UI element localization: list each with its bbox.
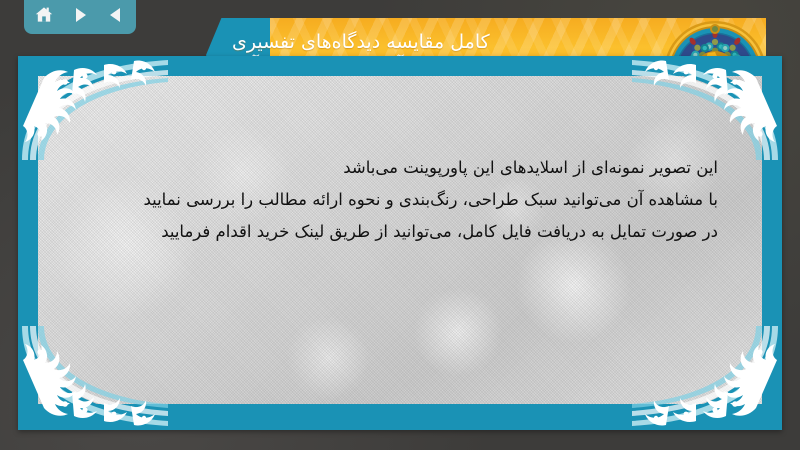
slide-content-area: این تصویر نمونه‌ای از اسلایدهای این پاور… xyxy=(38,76,762,404)
slide-frame: این تصویر نمونه‌ای از اسلایدهای این پاور… xyxy=(18,56,782,430)
body-line-2: با مشاهده آن می‌توانید سبک طراحی، رنگ‌بن… xyxy=(78,184,718,216)
slide-body-text: این تصویر نمونه‌ای از اسلایدهای این پاور… xyxy=(78,152,718,249)
triangle-right-icon xyxy=(71,6,89,24)
slide-viewer: کامل مقایسه دیدگاه‌های تفسیری درباره خطا… xyxy=(0,0,800,450)
body-line-3: در صورت تمایل به دریافت فایل کامل، می‌تو… xyxy=(78,216,718,248)
body-line-1: این تصویر نمونه‌ای از اسلایدهای این پاور… xyxy=(78,152,718,184)
navigation-bar xyxy=(24,0,136,34)
next-slide-button[interactable] xyxy=(67,2,93,28)
home-button[interactable] xyxy=(31,2,57,28)
triangle-left-icon xyxy=(107,6,125,24)
title-line-1: کامل مقایسه دیدگاه‌های تفسیری xyxy=(232,31,490,55)
previous-slide-button[interactable] xyxy=(103,2,129,28)
home-icon xyxy=(34,5,54,25)
